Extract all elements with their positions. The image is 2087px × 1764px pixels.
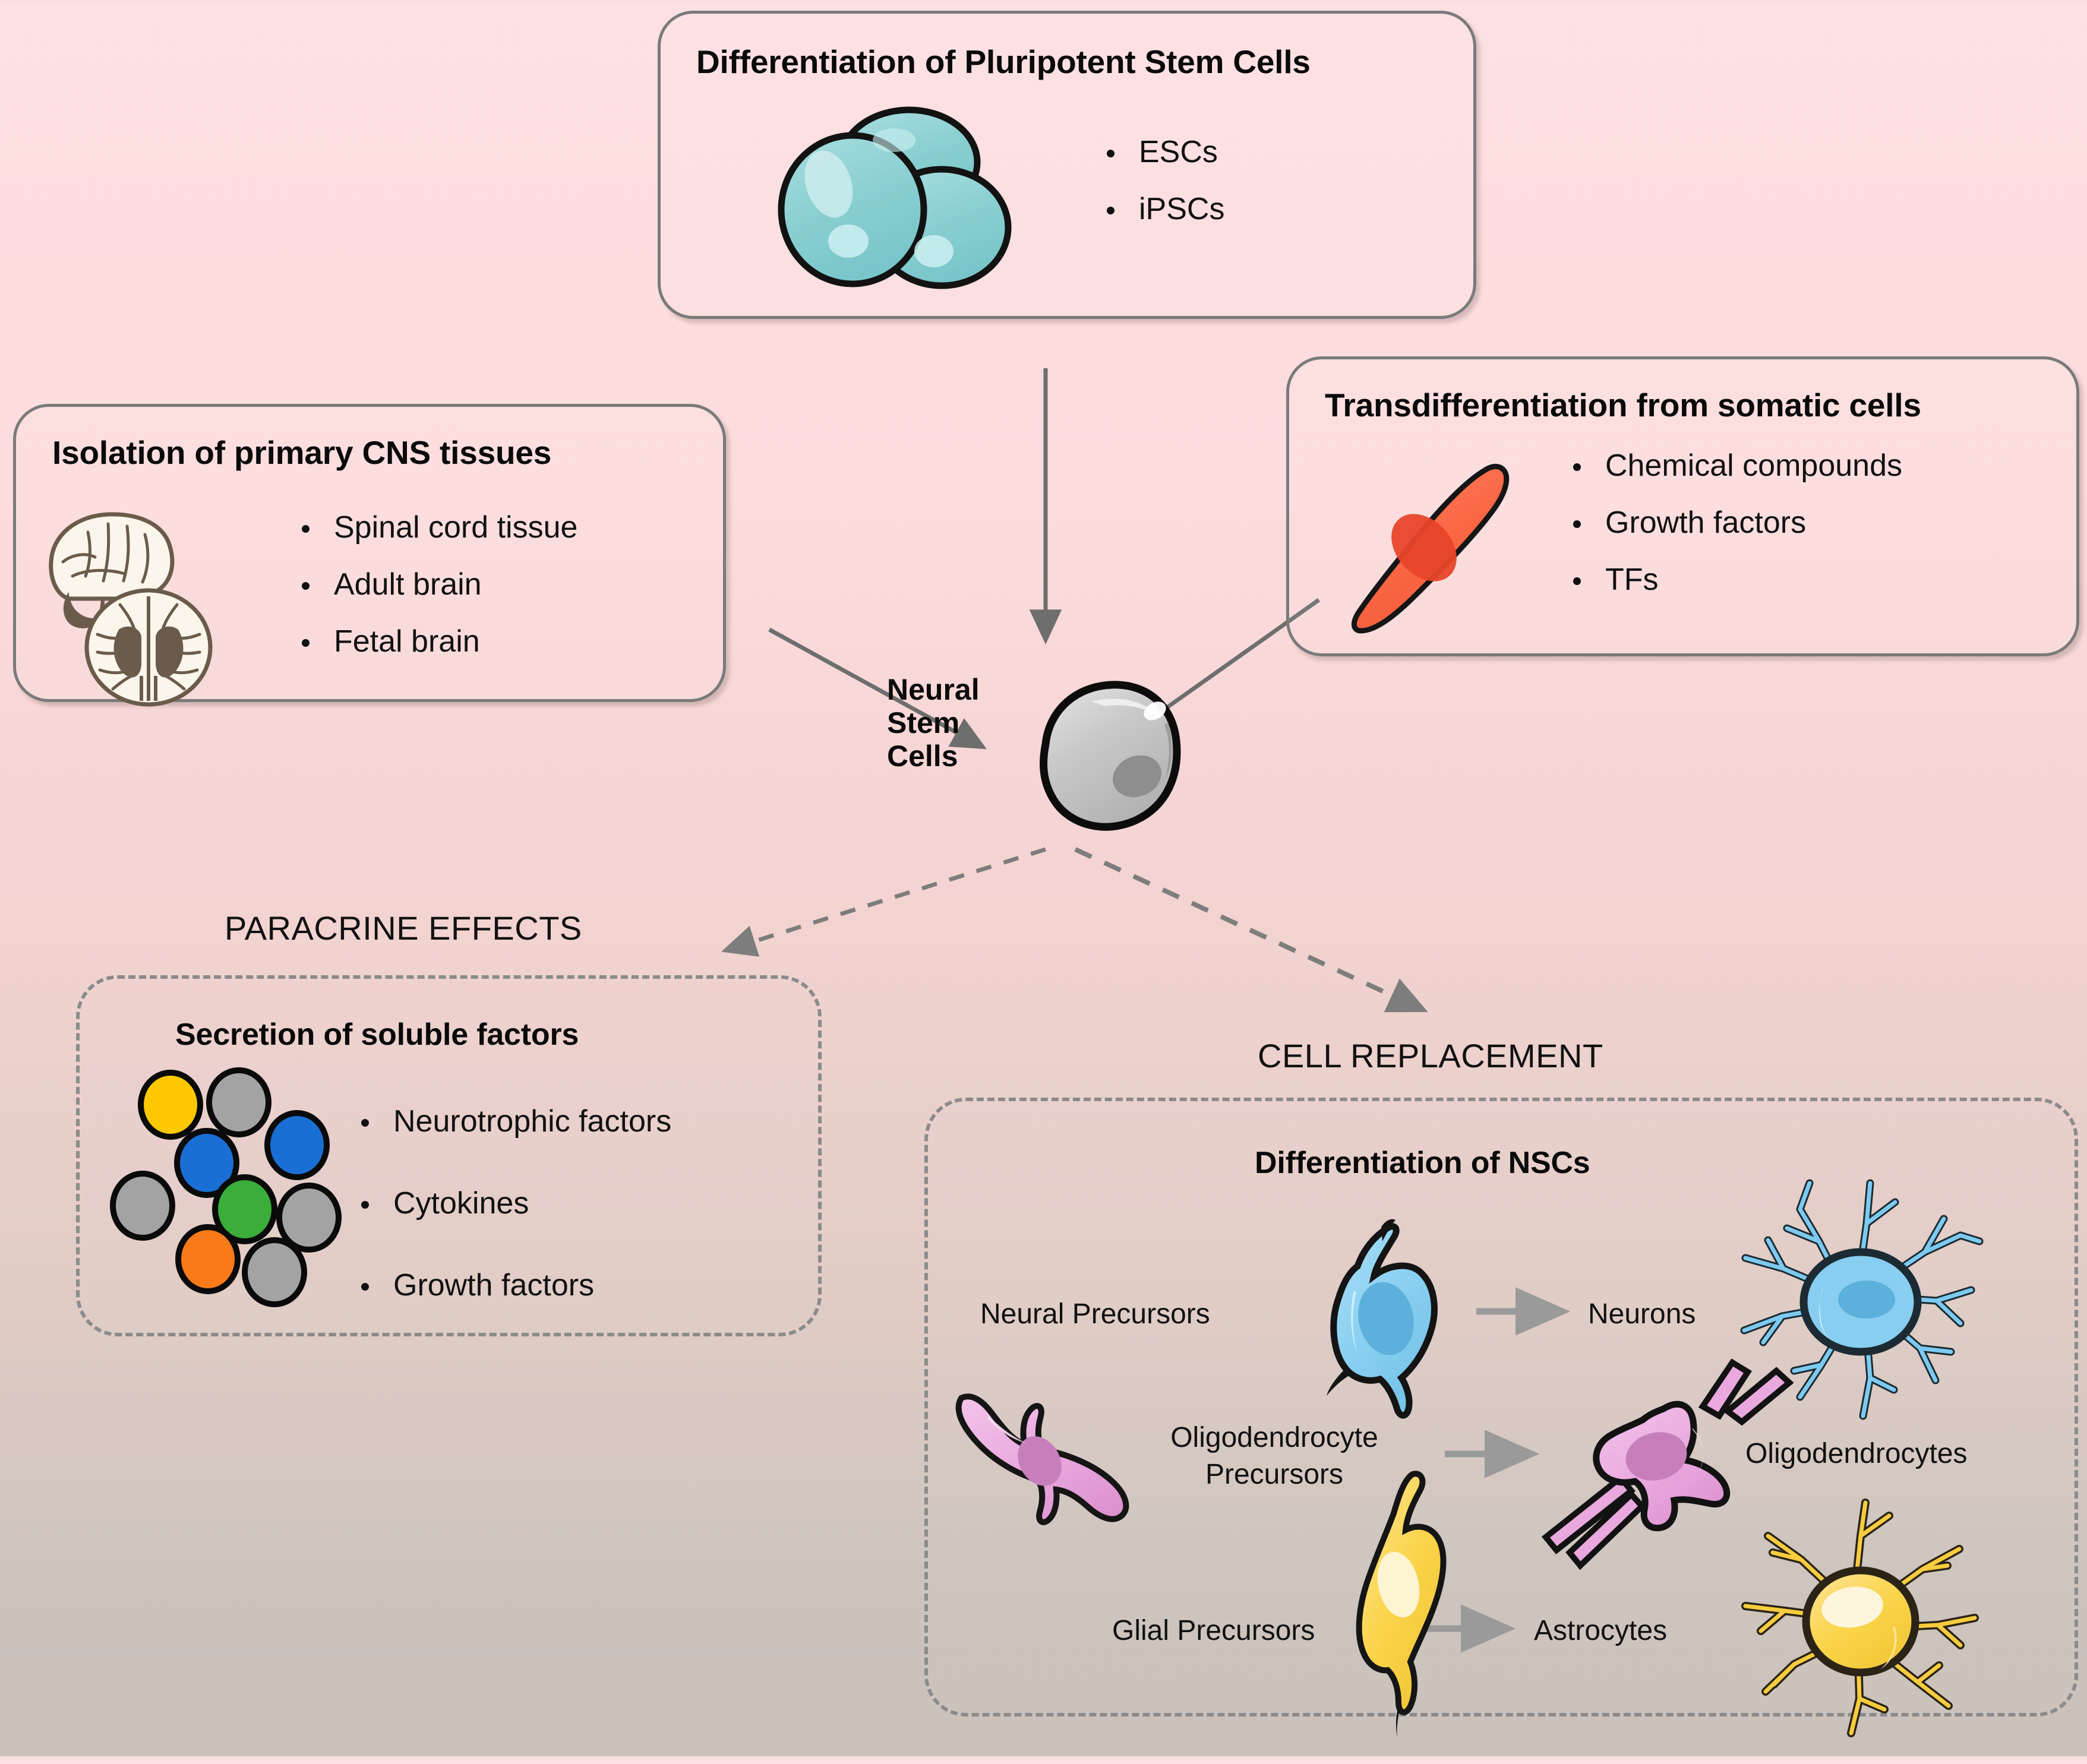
label-neural-precursors: Neural Precursors xyxy=(980,1298,1210,1330)
paracrine-panel-title: Secretion of soluble factors xyxy=(175,1017,579,1052)
label-glial-precursors: Glial Precursors xyxy=(1112,1614,1315,1647)
brain-icons xyxy=(34,498,236,700)
nsc-label-line: Neural xyxy=(887,673,980,706)
box-cns-bullets: Spinal cord tissue Adult brain Fetal bra… xyxy=(297,512,577,683)
factor-dot xyxy=(209,1070,269,1134)
bullet-item: Growth factors xyxy=(1568,507,1902,538)
nsc-label-line: Cells xyxy=(887,739,980,773)
somatic-fibroblast-cell-icon xyxy=(1340,457,1542,641)
factor-dot xyxy=(279,1186,339,1250)
bullet-item: Cytokines xyxy=(356,1188,671,1219)
glial-precursor-cell-icon xyxy=(1325,1466,1503,1763)
nsc-label-line: Stem xyxy=(887,706,980,739)
bullet-item: Chemical compounds xyxy=(1568,450,1902,481)
bullet-item: iPSCs xyxy=(1102,194,1224,225)
label-astrocytes: Astrocytes xyxy=(1534,1614,1667,1647)
bullet-item: Fetal brain xyxy=(297,626,577,657)
box-cns-title: Isolation of primary CNS tissues xyxy=(52,434,551,472)
pluripotent-stem-cell-cluster-icon xyxy=(772,106,1052,296)
bullet-item: ESCs xyxy=(1102,137,1224,167)
bullet-item: Growth factors xyxy=(356,1270,671,1301)
cell-replacement-panel-title: Differentiation of NSCs xyxy=(1255,1145,1590,1181)
arrow-nsc-to-paracrine xyxy=(726,849,1046,950)
paracrine-bullets: Neurotrophic factors Cytokines Growth fa… xyxy=(356,1106,671,1327)
factor-dot xyxy=(141,1073,200,1137)
factor-dot xyxy=(245,1240,304,1304)
bullet-item: Adult brain xyxy=(297,569,577,600)
cell-replacement-section-label: CELL REPLACEMENT xyxy=(1258,1036,1603,1075)
box-transdiff-title: Transdifferentiation from somatic cells xyxy=(1325,386,1921,424)
neural-stem-cell-icon xyxy=(1021,674,1199,846)
diagram-canvas: Differentiation of Pluripotent Stem Cell… xyxy=(0,0,2087,1756)
label-oligodendrocytes: Oligodendrocytes xyxy=(1745,1437,1968,1470)
neural-precursor-cell-icon xyxy=(1292,1200,1488,1425)
box-pluripotent-title: Differentiation of Pluripotent Stem Cell… xyxy=(696,43,1311,81)
soluble-factor-dots xyxy=(107,1068,356,1305)
arrow-nsc-to-cell-replacement xyxy=(1075,849,1423,1010)
bullet-item: Spinal cord tissue xyxy=(297,512,577,543)
label-line: Oligodendrocyte xyxy=(1132,1420,1417,1456)
factor-dot xyxy=(178,1227,238,1291)
factor-dot xyxy=(267,1113,327,1177)
bullet-item: Neurotrophic factors xyxy=(356,1106,671,1137)
bullet-item: TFs xyxy=(1568,564,1902,595)
paracrine-effects-section-label: PARACRINE EFFECTS xyxy=(225,909,582,947)
factor-dot xyxy=(113,1174,172,1238)
astrocyte-icon xyxy=(1711,1479,2020,1764)
box-transdiff-bullets: Chemical compounds Growth factors TFs xyxy=(1568,450,1902,621)
neural-stem-cells-label: Neural Stem Cells xyxy=(887,673,980,773)
label-neurons: Neurons xyxy=(1588,1298,1696,1330)
box-pluripotent-bullets: ESCs iPSCs xyxy=(1102,137,1224,251)
coronal-brain-section-icon xyxy=(87,590,210,704)
